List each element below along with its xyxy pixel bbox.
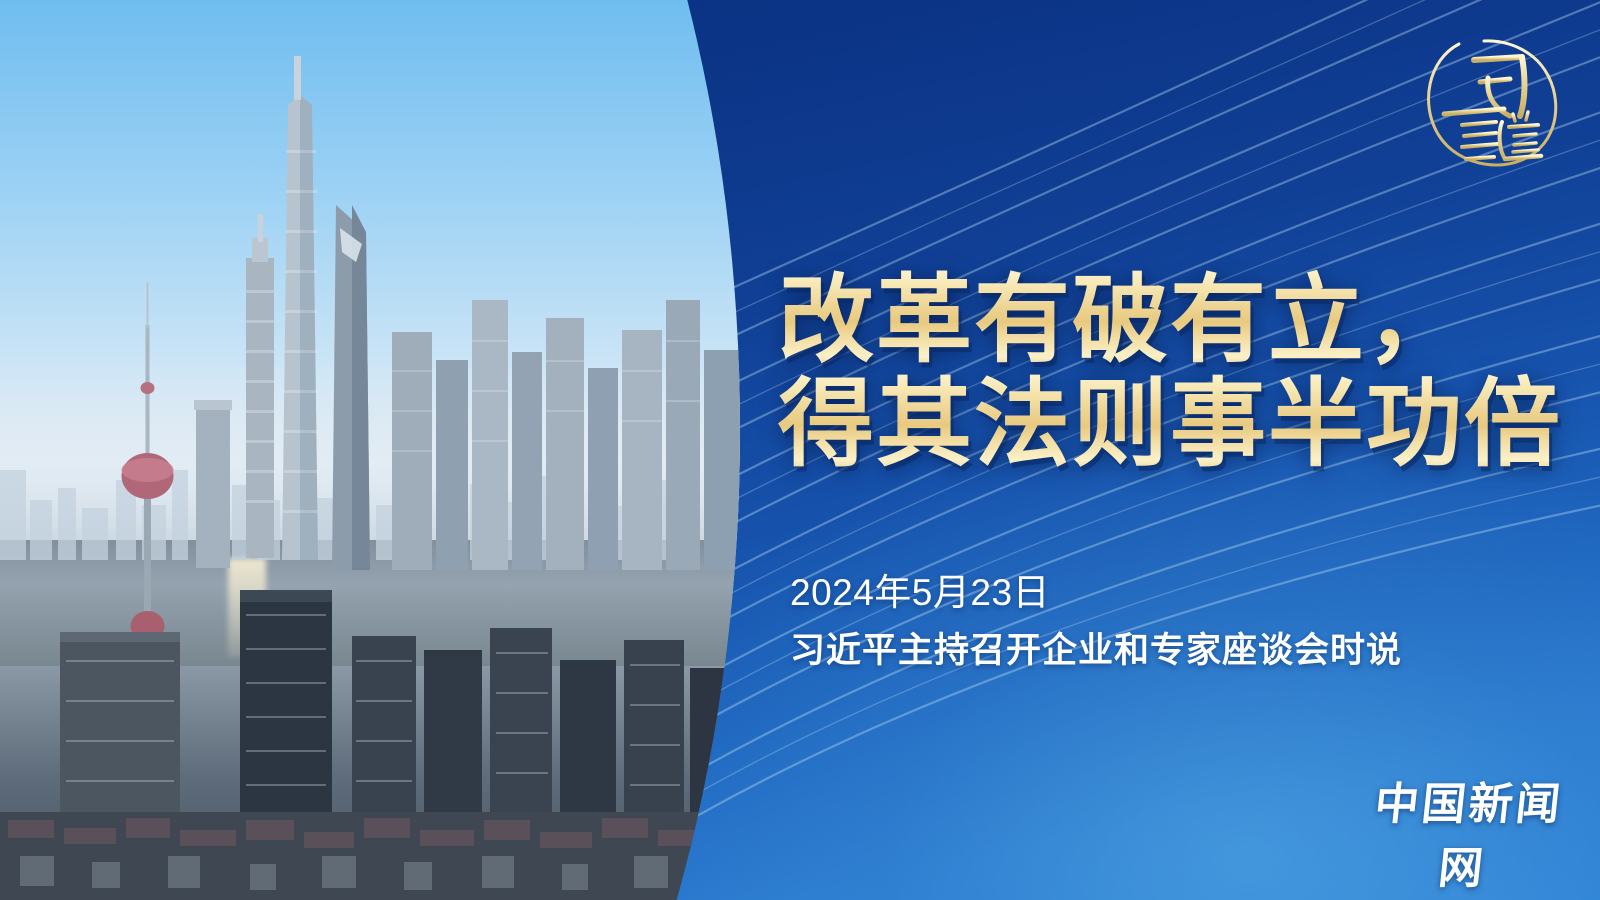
cityscape-photo xyxy=(0,0,760,900)
right-tower-cluster xyxy=(392,300,740,570)
twin-towers xyxy=(194,400,266,568)
quote-date: 2024年5月23日 xyxy=(790,562,1550,616)
quote-context: 习近平主持召开企业和专家座谈会时说 xyxy=(790,622,1550,673)
headline-line-1: 改革有破有立， xyxy=(778,266,1568,374)
photo-skyline-shapes xyxy=(0,0,760,900)
low-rise-roofs xyxy=(0,812,760,900)
headline-line-2: 得其法则事半功倍 xyxy=(778,370,1568,478)
shanghai-tower xyxy=(282,56,318,560)
chinanews-brand: 中国新闻网 WWW.CHINANEWS.COM xyxy=(1362,768,1570,900)
xi-yan-dao-seal-logo xyxy=(1412,26,1564,178)
brand-name-cn: 中国新闻网 xyxy=(1355,768,1576,896)
poster-canvas: 改革有破有立， 得其法则事半功倍 2024年5月23日 习近平主持召开企业和专家… xyxy=(0,0,1600,900)
headline: 改革有破有立， 得其法则事半功倍 xyxy=(778,266,1568,477)
subtitle-block: 2024年5月23日 习近平主持召开企业和专家座谈会时说 xyxy=(790,562,1550,673)
world-financial-center xyxy=(332,205,370,570)
